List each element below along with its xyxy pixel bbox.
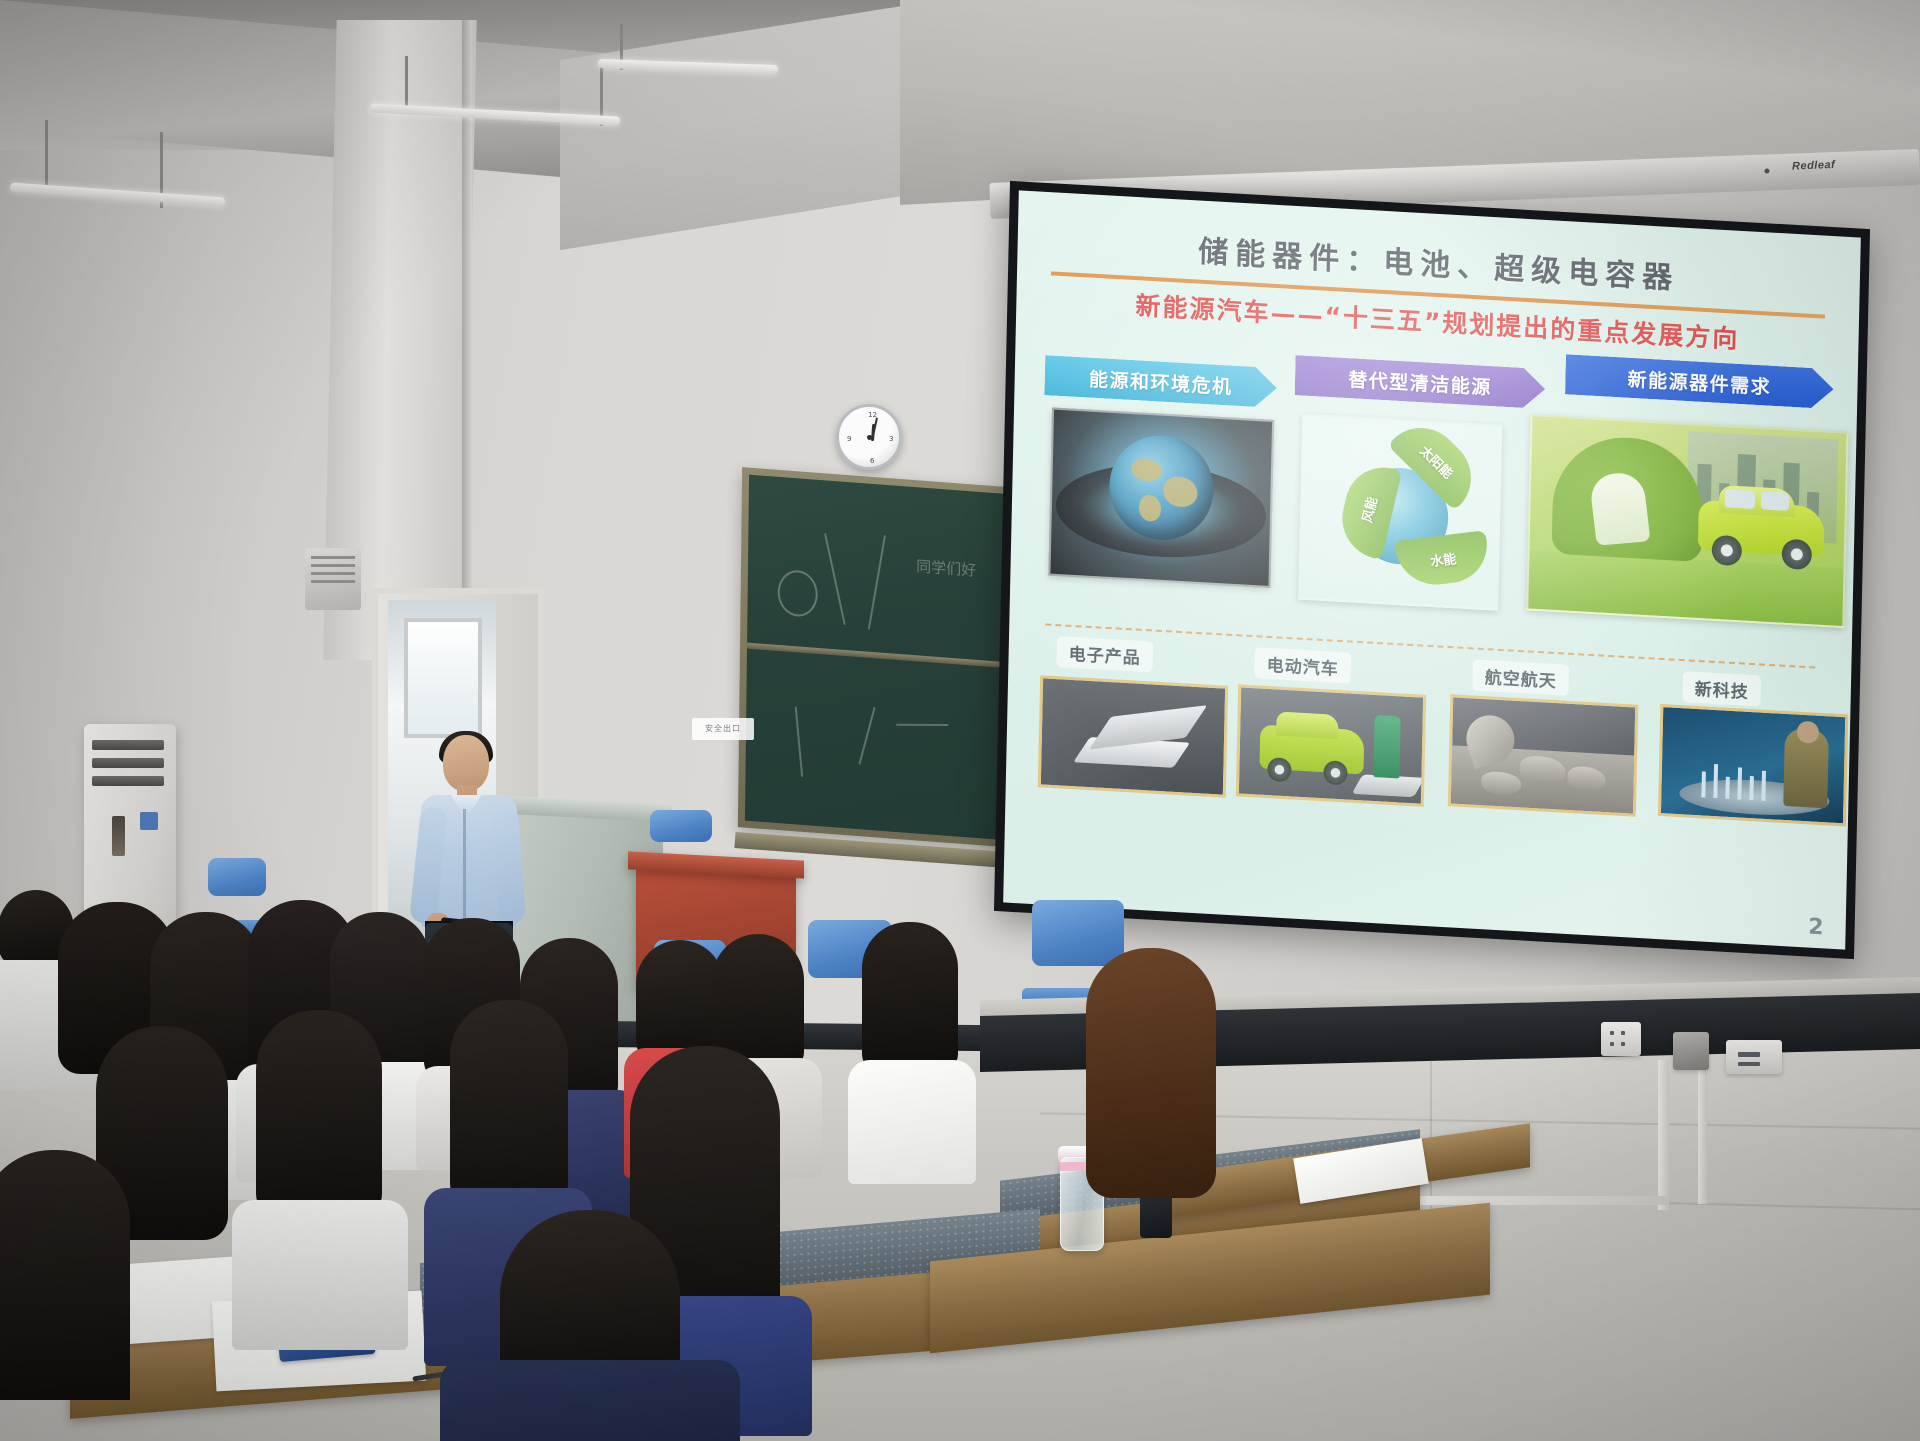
projection-screen: 储能器件：电池、超级电容器 新能源汽车——“十三五”规划提出的重点发展方向 能源… <box>994 181 1870 959</box>
chalk-circle <box>777 569 818 618</box>
tag-aerospace: 航空航天 <box>1472 659 1569 695</box>
power-outlet-right[interactable] <box>1726 1040 1782 1074</box>
projected-slide: 储能器件：电池、超级电容器 新能源汽车——“十三五”规划提出的重点发展方向 能源… <box>1003 190 1861 949</box>
chalk-stroke-5 <box>896 724 948 726</box>
presenter-head <box>443 735 489 791</box>
wall-sign: 安全出口 <box>692 718 754 740</box>
tag-electric-vehicle: 电动汽车 <box>1254 647 1351 683</box>
slide-page-number: 2 <box>1808 914 1824 940</box>
chalk-text: 同学们好 <box>916 555 976 581</box>
student-numbered-shirt <box>848 1060 976 1184</box>
wall-speaker <box>305 548 361 610</box>
door-window <box>404 618 482 738</box>
image-renewable-globe: 太阳能 风能 水能 <box>1298 414 1502 611</box>
power-outlet-left[interactable] <box>1601 1022 1641 1056</box>
light-rod-1 <box>45 120 48 192</box>
tag-new-tech: 新科技 <box>1682 671 1761 706</box>
leaf-wind-label: 风能 <box>1356 494 1380 524</box>
ac-brand-badge <box>140 812 158 830</box>
tag-electronics: 电子产品 <box>1056 636 1153 672</box>
thumbnail-laptop <box>1038 675 1228 798</box>
brand-dot-icon <box>1764 168 1769 173</box>
arrow-banner-clean-energy: 替代型清洁能源 <box>1295 355 1546 409</box>
screen-brand-label: Redleaf <box>1792 159 1836 173</box>
image-green-car <box>1526 414 1848 628</box>
blackboard: 同学们好 <box>738 467 1032 849</box>
wall-clock: 12 3 6 9 <box>836 404 902 470</box>
thumbnail-future-tech <box>1658 704 1848 827</box>
thumbnail-ev-charging <box>1236 684 1426 807</box>
arrow-banner-device-demand: 新能源器件需求 <box>1565 354 1834 409</box>
leaf-hydro-label: 水能 <box>1429 549 1458 571</box>
chalk-stroke-3 <box>795 707 803 777</box>
chalk-stroke-4 <box>858 707 875 765</box>
blackboard-surface: 同学们好 <box>745 475 1025 842</box>
junction-box <box>1673 1032 1709 1070</box>
classroom-photo: 12 3 6 9 同学们好 Redleaf 储能器件：电池、超级电容器 <box>0 0 1920 1441</box>
wall-conduit-vertical <box>1658 1060 1669 1210</box>
ac-display-panel[interactable] <box>112 816 125 856</box>
thumbnail-aerospace <box>1448 694 1638 817</box>
leaf-hydro: 水能 <box>1394 530 1492 589</box>
image-earth-in-oil <box>1048 408 1274 588</box>
chalk-stroke-1 <box>824 533 846 624</box>
leaf-solar-label: 太阳能 <box>1417 441 1458 482</box>
chalk-stroke-2 <box>868 535 886 629</box>
slide-image-row: 太阳能 风能 水能 <box>1040 391 1827 657</box>
clock-center-pin <box>867 435 872 440</box>
wall-conduit-vertical-2 <box>1698 1062 1707 1204</box>
